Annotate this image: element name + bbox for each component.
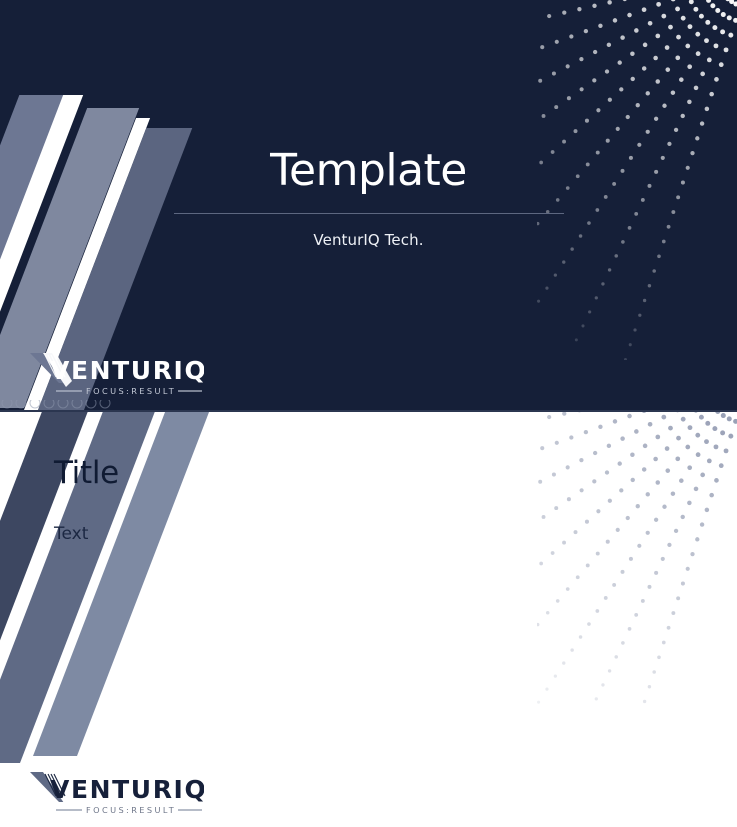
content-heading: Title bbox=[54, 455, 119, 491]
logo-wordmark-text: VENTURIQ bbox=[50, 356, 204, 385]
logo-wordmark-text: VENTURIQ bbox=[50, 775, 204, 804]
logo-tagline-text: FOCUS:RESULT bbox=[86, 386, 176, 396]
venturiq-logo-dark[interactable]: VENTURIQ FOCUS:RESULT bbox=[26, 772, 204, 820]
title-block: Template VenturIQ Tech. bbox=[0, 148, 737, 249]
page-subtitle: VenturIQ Tech. bbox=[0, 231, 737, 249]
venturiq-logo-light[interactable]: VENTURIQ FOCUS:RESULT bbox=[26, 353, 204, 401]
content-body-text: Text bbox=[54, 524, 88, 544]
slide-deck: Template VenturIQ Tech. VENTURIQ bbox=[0, 0, 737, 827]
title-divider-rule bbox=[174, 213, 564, 214]
content-slide[interactable]: Title Text VENTURIQ FOCUS:RESULT bbox=[0, 411, 737, 827]
title-slide[interactable]: Template VenturIQ Tech. VENTURIQ bbox=[0, 0, 737, 411]
page-title: Template bbox=[0, 148, 737, 195]
slide-separator bbox=[0, 410, 737, 412]
logo-tagline-text: FOCUS:RESULT bbox=[86, 805, 176, 815]
radial-dot-burst-decoration-light bbox=[537, 411, 737, 711]
